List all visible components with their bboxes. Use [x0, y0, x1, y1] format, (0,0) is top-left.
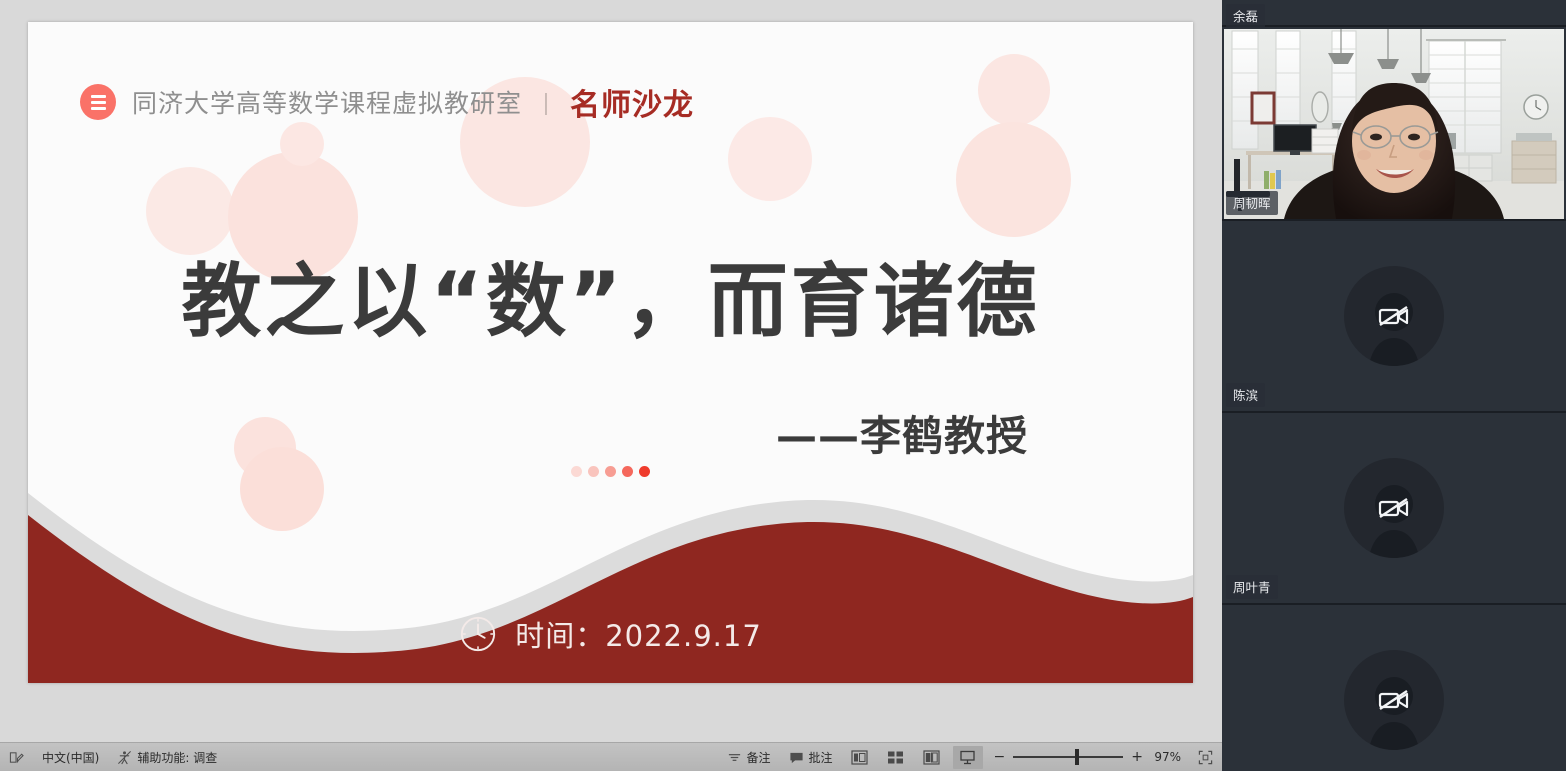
slide-header-accent: 名师沙龙	[570, 80, 694, 124]
participants-panel[interactable]: 余磊	[1222, 0, 1566, 771]
decor-blob	[728, 117, 812, 201]
slide-sorter-view-icon	[887, 750, 904, 765]
notes-button[interactable]: 备注	[718, 743, 780, 771]
notes-label: 备注	[747, 749, 771, 766]
hamburger-menu-icon	[80, 84, 116, 120]
slide-time-row: 时间：2022.9.17	[28, 613, 1193, 655]
comments-button[interactable]: 批注	[780, 743, 842, 771]
participant-tile[interactable]: 陈滨	[1222, 221, 1566, 413]
zoom-slider-thumb[interactable]	[1075, 749, 1079, 765]
participant-name: 陈滨	[1226, 383, 1265, 407]
language-status[interactable]: 中文(中国)	[33, 743, 108, 771]
camera-off-icon	[1377, 299, 1411, 333]
decor-blob	[956, 122, 1071, 237]
camera-off-icon	[1377, 683, 1411, 717]
slideshow-view-icon	[959, 750, 976, 765]
language-label: 中文(中国)	[42, 749, 99, 766]
zoom-control[interactable]: − + 97%	[986, 750, 1189, 764]
proofing-status[interactable]	[0, 743, 33, 771]
participant-avatar-area	[1222, 221, 1566, 411]
zoom-slider[interactable]	[1013, 756, 1123, 758]
meeting-screen-share-view: 同济大学高等数学课程虚拟教研室 | 名师沙龙 教之以“数”，而育诸德 ——李鹤教…	[0, 0, 1566, 771]
slide-main-title: 教之以“数”，而育诸德	[28, 262, 1193, 342]
view-slideshow-button[interactable]	[953, 746, 983, 769]
slide-org-text: 同济大学高等数学课程虚拟教研室	[132, 84, 522, 120]
presentation-area: 同济大学高等数学课程虚拟教研室 | 名师沙龙 教之以“数”，而育诸德 ——李鹤教…	[0, 0, 1222, 742]
notes-icon	[727, 750, 742, 765]
participant-tile[interactable]: 周叶青	[1222, 413, 1566, 605]
participant-name: 余磊	[1226, 4, 1265, 28]
decor-blob	[280, 122, 324, 166]
zoom-out-button[interactable]: −	[994, 750, 1006, 764]
avatar	[1344, 650, 1444, 750]
zoom-level-label: 97%	[1151, 750, 1181, 764]
camera-off-icon	[1377, 491, 1411, 525]
view-reading-button[interactable]	[917, 746, 947, 769]
slide-header-separator: |	[543, 89, 549, 116]
fit-to-window-button[interactable]	[1189, 743, 1222, 771]
slide-time-label: 时间：2022.9.17	[515, 613, 762, 655]
participant-avatar-area	[1222, 605, 1566, 771]
decor-blob	[978, 54, 1050, 126]
comments-label: 批注	[809, 749, 833, 766]
proofing-book-icon	[9, 750, 24, 765]
slide-header: 同济大学高等数学课程虚拟教研室 | 名师沙龙	[80, 80, 694, 124]
participant-tile[interactable]	[1222, 605, 1566, 771]
accessibility-label: 辅助功能: 调查	[137, 749, 217, 766]
normal-view-icon	[851, 750, 868, 765]
participant-tile[interactable]: 余磊	[1222, 0, 1566, 27]
view-normal-button[interactable]	[845, 746, 875, 769]
participant-tile-active[interactable]: 周韧晖	[1222, 27, 1566, 221]
accessibility-status[interactable]: 辅助功能: 调查	[108, 743, 226, 771]
comment-icon	[789, 750, 804, 765]
avatar	[1344, 458, 1444, 558]
participant-name: 周韧晖	[1226, 191, 1278, 215]
powerpoint-status-bar: 中文(中国) 辅助功能: 调查 备注 批注	[0, 742, 1222, 771]
reading-view-icon	[923, 750, 940, 765]
fit-to-window-icon	[1198, 750, 1213, 765]
clock-icon	[459, 615, 497, 653]
avatar	[1344, 266, 1444, 366]
zoom-in-button[interactable]: +	[1131, 750, 1143, 764]
slide-canvas[interactable]: 同济大学高等数学课程虚拟教研室 | 名师沙龙 教之以“数”，而育诸德 ——李鹤教…	[28, 22, 1193, 683]
view-slide-sorter-button[interactable]	[881, 746, 911, 769]
participant-name: 周叶青	[1226, 575, 1278, 599]
accessibility-icon	[117, 750, 132, 765]
decor-blob	[146, 167, 234, 255]
